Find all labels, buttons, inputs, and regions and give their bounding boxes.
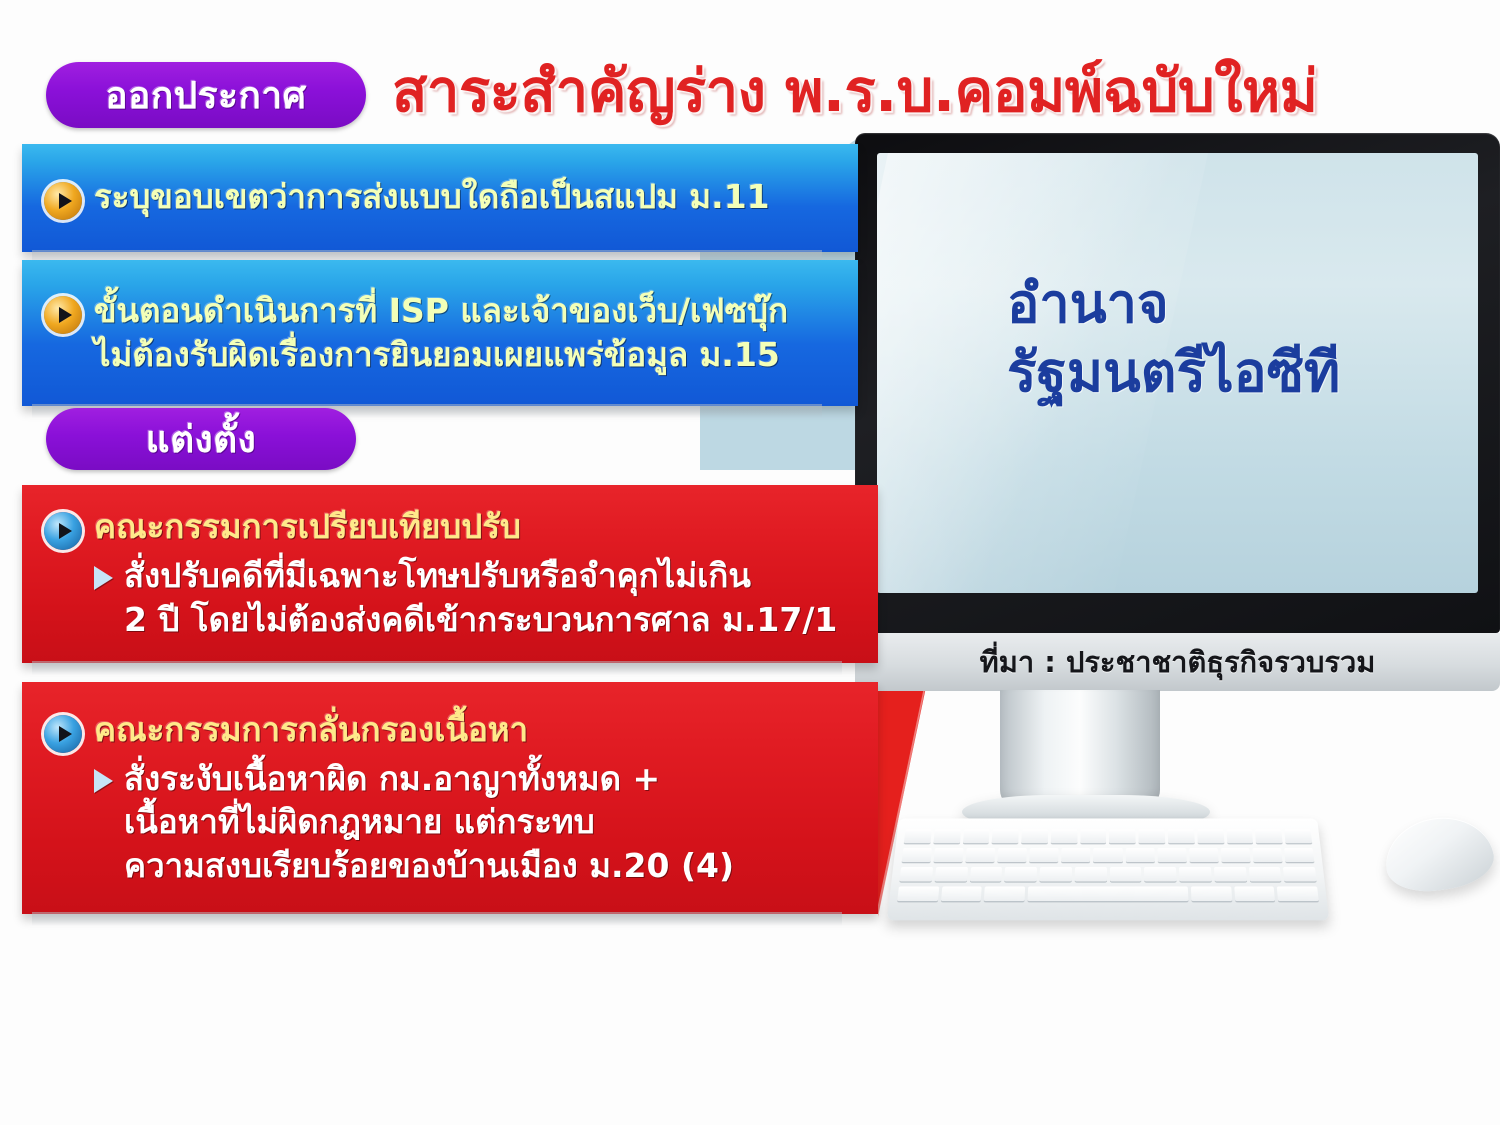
panel-1-heading: ระบุขอบเขตว่าการส่งแบบใดถือเป็นสแปม ม.11 (94, 176, 770, 219)
keyboard-key (1125, 848, 1154, 862)
panel-2-heading-line1: ขั้นตอนดำเนินการที่ ISP และเจ้าของเว็บ/เ… (94, 290, 788, 333)
keyboard-row (904, 829, 1312, 843)
keyboard-key (934, 848, 964, 862)
panel-isp-procedure: ขั้นตอนดำเนินการที่ ISP และเจ้าของเว็บ/เ… (22, 260, 858, 406)
keyboard-key (1062, 848, 1091, 862)
infographic-canvas: อำนาจ รัฐมนตรีไอซีที ที่มา : ประชาชาติธุ… (0, 0, 1500, 1125)
keyboard-key (934, 867, 967, 882)
gold-play-icon (44, 296, 82, 334)
keyboard-key (1075, 867, 1107, 882)
keyboard-key (1221, 848, 1251, 862)
keyboard-key (1094, 848, 1123, 862)
keyboard-key (1144, 867, 1176, 882)
keyboard-key (941, 886, 982, 901)
monitor-chin: ที่มา : ประชาชาติธุรกิจรวบรวม (855, 633, 1500, 691)
panel-4-sub-line3: ความสงบเรียบร้อยของบ้านเมือง ม.20 (4) (124, 844, 734, 888)
screen-headline-line1: อำนาจ (1007, 271, 1447, 338)
panel-4-sub-line2: เนื้อหาที่ไม่ผิดกฎหมาย แต่กระทบ (124, 800, 734, 844)
blue-play-icon (44, 512, 82, 550)
keyboard-spacebar (1027, 886, 1188, 901)
monitor-bezel: อำนาจ รัฐมนตรีไอซีที (855, 133, 1500, 633)
blue-play-icon (44, 715, 82, 753)
monitor-screen: อำนาจ รัฐมนตรีไอซีที (877, 153, 1478, 593)
panel-3-sub-line2: 2 ปี โดยไม่ต้องส่งคดีเข้ากระบวนการศาล ม.… (124, 598, 837, 642)
keyboard-row (897, 886, 1319, 901)
keyboard-key (1189, 848, 1219, 862)
panel-4-heading: คณะกรรมการกลั่นกรองเนื้อหา (94, 709, 528, 752)
keyboard-key (1139, 829, 1166, 843)
gold-play-icon (44, 182, 82, 220)
screen-headline: อำนาจ รัฐมนตรีไอซีที (1007, 271, 1447, 406)
keyboard-key (1080, 829, 1106, 843)
keyboard-row (899, 867, 1316, 882)
keyboard-key (1021, 829, 1048, 843)
keyboard-key (1252, 848, 1282, 862)
keyboard-key (1197, 829, 1224, 843)
panel-4-sub-line1: สั่งระงับเนื้อหาผิด กม.อาญาทั้งหมด + (124, 757, 734, 801)
keyboard-key (1214, 867, 1247, 882)
panel-4-sub-row: สั่งระงับเนื้อหาผิด กม.อาญาทั้งหมด + เนื… (44, 757, 860, 888)
keyboard-key (966, 848, 996, 862)
keyboard-key (1039, 867, 1071, 882)
panel-3-sub-line1: สั่งปรับคดีที่มีเฉพาะโทษปรับหรือจำคุกไม่… (124, 554, 837, 598)
keyboard-key (984, 886, 1025, 901)
panel-2-heading-line2: ไม่ต้องรับผิดเรื่องการยินยอมเผยแพร่ข้อมู… (44, 334, 840, 377)
keyboard-key (1168, 829, 1195, 843)
keyboard-key (902, 848, 932, 862)
keyboard-key (992, 829, 1019, 843)
keyboard-key (1226, 829, 1253, 843)
panel-heading-row: คณะกรรมการกลั่นกรองเนื้อหา (44, 709, 860, 753)
keyboard-key (1109, 829, 1135, 843)
panel-heading-row: ระบุขอบเขตว่าการส่งแบบใดถือเป็นสแปม ม.11 (44, 176, 840, 220)
keyboard-key (1191, 886, 1232, 901)
panel-spam-scope: ระบุขอบเขตว่าการส่งแบบใดถือเป็นสแปม ม.11 (22, 144, 858, 252)
panel-fine-committee: คณะกรรมการเปรียบเทียบปรับ สั่งปรับคดีที่… (22, 485, 878, 663)
keyboard-key (1004, 867, 1037, 882)
keyboard (887, 818, 1329, 920)
keyboard-key (897, 886, 939, 901)
keyboard-key (1234, 886, 1275, 901)
computer-monitor: อำนาจ รัฐมนตรีไอซีที ที่มา : ประชาชาติธุ… (855, 133, 1500, 693)
keyboard-key (963, 829, 990, 843)
sub-arrow-icon (94, 769, 113, 793)
computer-mouse (1381, 811, 1498, 897)
source-attribution: ที่มา : ประชาชาติธุรกิจรวบรวม (980, 639, 1376, 685)
keyboard-key (1284, 848, 1314, 862)
panel-3-heading: คณะกรรมการเปรียบเทียบปรับ (94, 506, 521, 549)
keyboard-key (1157, 848, 1186, 862)
keyboard-key (899, 867, 932, 882)
keyboard-key (1284, 829, 1312, 843)
keyboard-key (998, 848, 1028, 862)
keyboard-key (1109, 867, 1141, 882)
badge-announce: ออกประกาศ (46, 62, 366, 128)
panel-3-sub-row: สั่งปรับคดีที่มีเฉพาะโทษปรับหรือจำคุกไม่… (44, 554, 860, 641)
keyboard-key (1277, 886, 1319, 901)
panel-3-shadow (32, 661, 842, 675)
monitor-stand-neck (1000, 690, 1160, 808)
keyboard-key (1255, 829, 1283, 843)
keyboard-key (1030, 848, 1059, 862)
page-title: สาระสำคัญร่าง พ.ร.บ.คอมพ์ฉบับใหม่ (392, 48, 1482, 132)
keyboard-key (904, 829, 932, 843)
keyboard-key (969, 867, 1002, 882)
badge-appoint: แต่งตั้ง (46, 408, 356, 470)
panel-heading-row: ขั้นตอนดำเนินการที่ ISP และเจ้าของเว็บ/เ… (44, 290, 840, 334)
panel-heading-row: คณะกรรมการเปรียบเทียบปรับ (44, 506, 860, 550)
screen-headline-line2: รัฐมนตรีไอซีที (1007, 338, 1447, 406)
keyboard-row (902, 848, 1315, 862)
keyboard-key (1051, 829, 1078, 843)
keyboard-key (933, 829, 961, 843)
keyboard-key (1179, 867, 1212, 882)
keyboard-key (1283, 867, 1316, 882)
keyboard-key (1248, 867, 1281, 882)
sub-arrow-icon (94, 566, 113, 590)
panel-4-shadow (32, 912, 842, 926)
panel-content-screening-committee: คณะกรรมการกลั่นกรองเนื้อหา สั่งระงับเนื้… (22, 682, 878, 914)
